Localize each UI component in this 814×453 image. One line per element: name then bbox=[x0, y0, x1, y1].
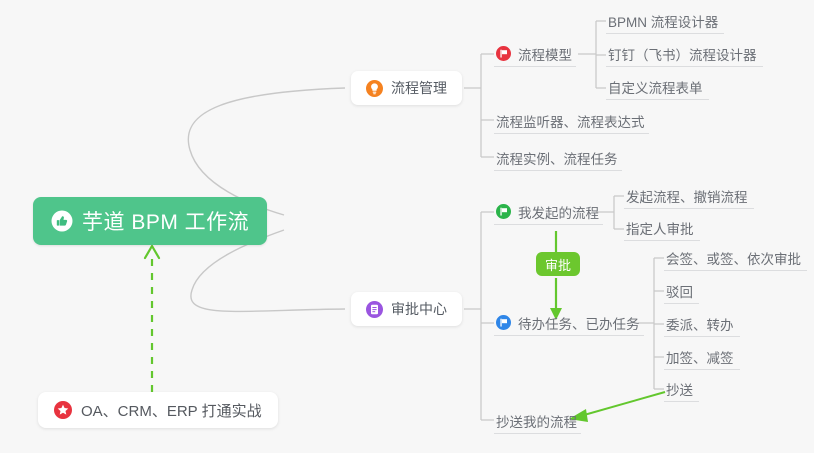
branch-process-management[interactable]: 流程管理 bbox=[351, 71, 462, 105]
node-my-started-processes[interactable]: 我发起的流程 bbox=[494, 199, 603, 225]
root-label: 芋道 BPM 工作流 bbox=[82, 206, 249, 236]
node-cc-to-me[interactable]: 抄送我的流程 bbox=[494, 408, 581, 434]
node-label: 流程监听器、流程表达式 bbox=[496, 111, 645, 131]
mindmap-canvas: 芋道 BPM 工作流 流程管理 流程模型 BPMN 流程设计器 钉钉（飞书）流程 bbox=[0, 0, 814, 453]
node-label: 流程实例、流程任务 bbox=[496, 148, 618, 168]
leaf-label: 钉钉（飞书）流程设计器 bbox=[608, 44, 757, 64]
leaf-label: 会签、或签、依次审批 bbox=[666, 248, 801, 268]
leaf-custom-form[interactable]: 自定义流程表单 bbox=[606, 75, 709, 100]
leaf-label: 发起流程、撤销流程 bbox=[626, 186, 748, 206]
node-process-model[interactable]: 流程模型 bbox=[494, 41, 576, 67]
branch-label: 流程管理 bbox=[391, 78, 447, 98]
node-label: 我发起的流程 bbox=[518, 202, 599, 222]
leaf-label: 委派、转办 bbox=[666, 314, 734, 334]
node-label: 待办任务、已办任务 bbox=[518, 313, 640, 333]
cc-arrow-shaft bbox=[577, 392, 665, 417]
lightbulb-icon bbox=[366, 80, 383, 97]
root-node[interactable]: 芋道 BPM 工作流 bbox=[33, 197, 267, 245]
node-label: 流程模型 bbox=[518, 44, 572, 64]
branch-label: 审批中心 bbox=[391, 299, 447, 319]
callout-integration-practice[interactable]: OA、CRM、ERP 打通实战 bbox=[38, 392, 278, 428]
leaf-dingtalk-designer[interactable]: 钉钉（飞书）流程设计器 bbox=[606, 42, 763, 67]
flag-red-icon bbox=[496, 46, 511, 61]
leaf-label: 驳回 bbox=[666, 281, 693, 301]
thumbs-up-icon bbox=[51, 210, 73, 232]
tag-approval: 审批 bbox=[536, 252, 580, 276]
leaf-label: 自定义流程表单 bbox=[608, 77, 703, 97]
node-label: 抄送我的流程 bbox=[496, 411, 577, 431]
node-process-listener[interactable]: 流程监听器、流程表达式 bbox=[494, 108, 649, 134]
leaf-label: 加签、减签 bbox=[666, 347, 734, 367]
leaf-label: BPMN 流程设计器 bbox=[608, 11, 718, 31]
leaf-carbon-copy[interactable]: 抄送 bbox=[664, 377, 699, 402]
leaf-add-remove-sign[interactable]: 加签、减签 bbox=[664, 345, 740, 370]
wire-root-to-process-management bbox=[188, 88, 345, 215]
tag-label: 审批 bbox=[545, 255, 571, 274]
branch-approval-center[interactable]: 审批中心 bbox=[351, 292, 462, 326]
leaf-assignee-approval[interactable]: 指定人审批 bbox=[624, 216, 700, 241]
leaf-bpmn-designer[interactable]: BPMN 流程设计器 bbox=[606, 9, 724, 34]
node-todo-done-tasks[interactable]: 待办任务、已办任务 bbox=[494, 310, 644, 336]
leaf-countersign[interactable]: 会签、或签、依次审批 bbox=[664, 246, 807, 271]
doc-purple-icon bbox=[366, 301, 383, 318]
node-process-instance[interactable]: 流程实例、流程任务 bbox=[494, 145, 622, 171]
leaf-start-cancel-process[interactable]: 发起流程、撤销流程 bbox=[624, 184, 754, 209]
flag-green-icon bbox=[496, 204, 511, 219]
star-icon bbox=[54, 401, 72, 419]
callout-label: OA、CRM、ERP 打通实战 bbox=[81, 400, 262, 421]
leaf-label: 指定人审批 bbox=[626, 218, 694, 238]
leaf-label: 抄送 bbox=[666, 379, 693, 399]
callout-arrow-head bbox=[145, 246, 159, 258]
leaf-delegate-transfer[interactable]: 委派、转办 bbox=[664, 312, 740, 337]
flag-blue-icon bbox=[496, 315, 511, 330]
leaf-reject[interactable]: 驳回 bbox=[664, 279, 699, 304]
